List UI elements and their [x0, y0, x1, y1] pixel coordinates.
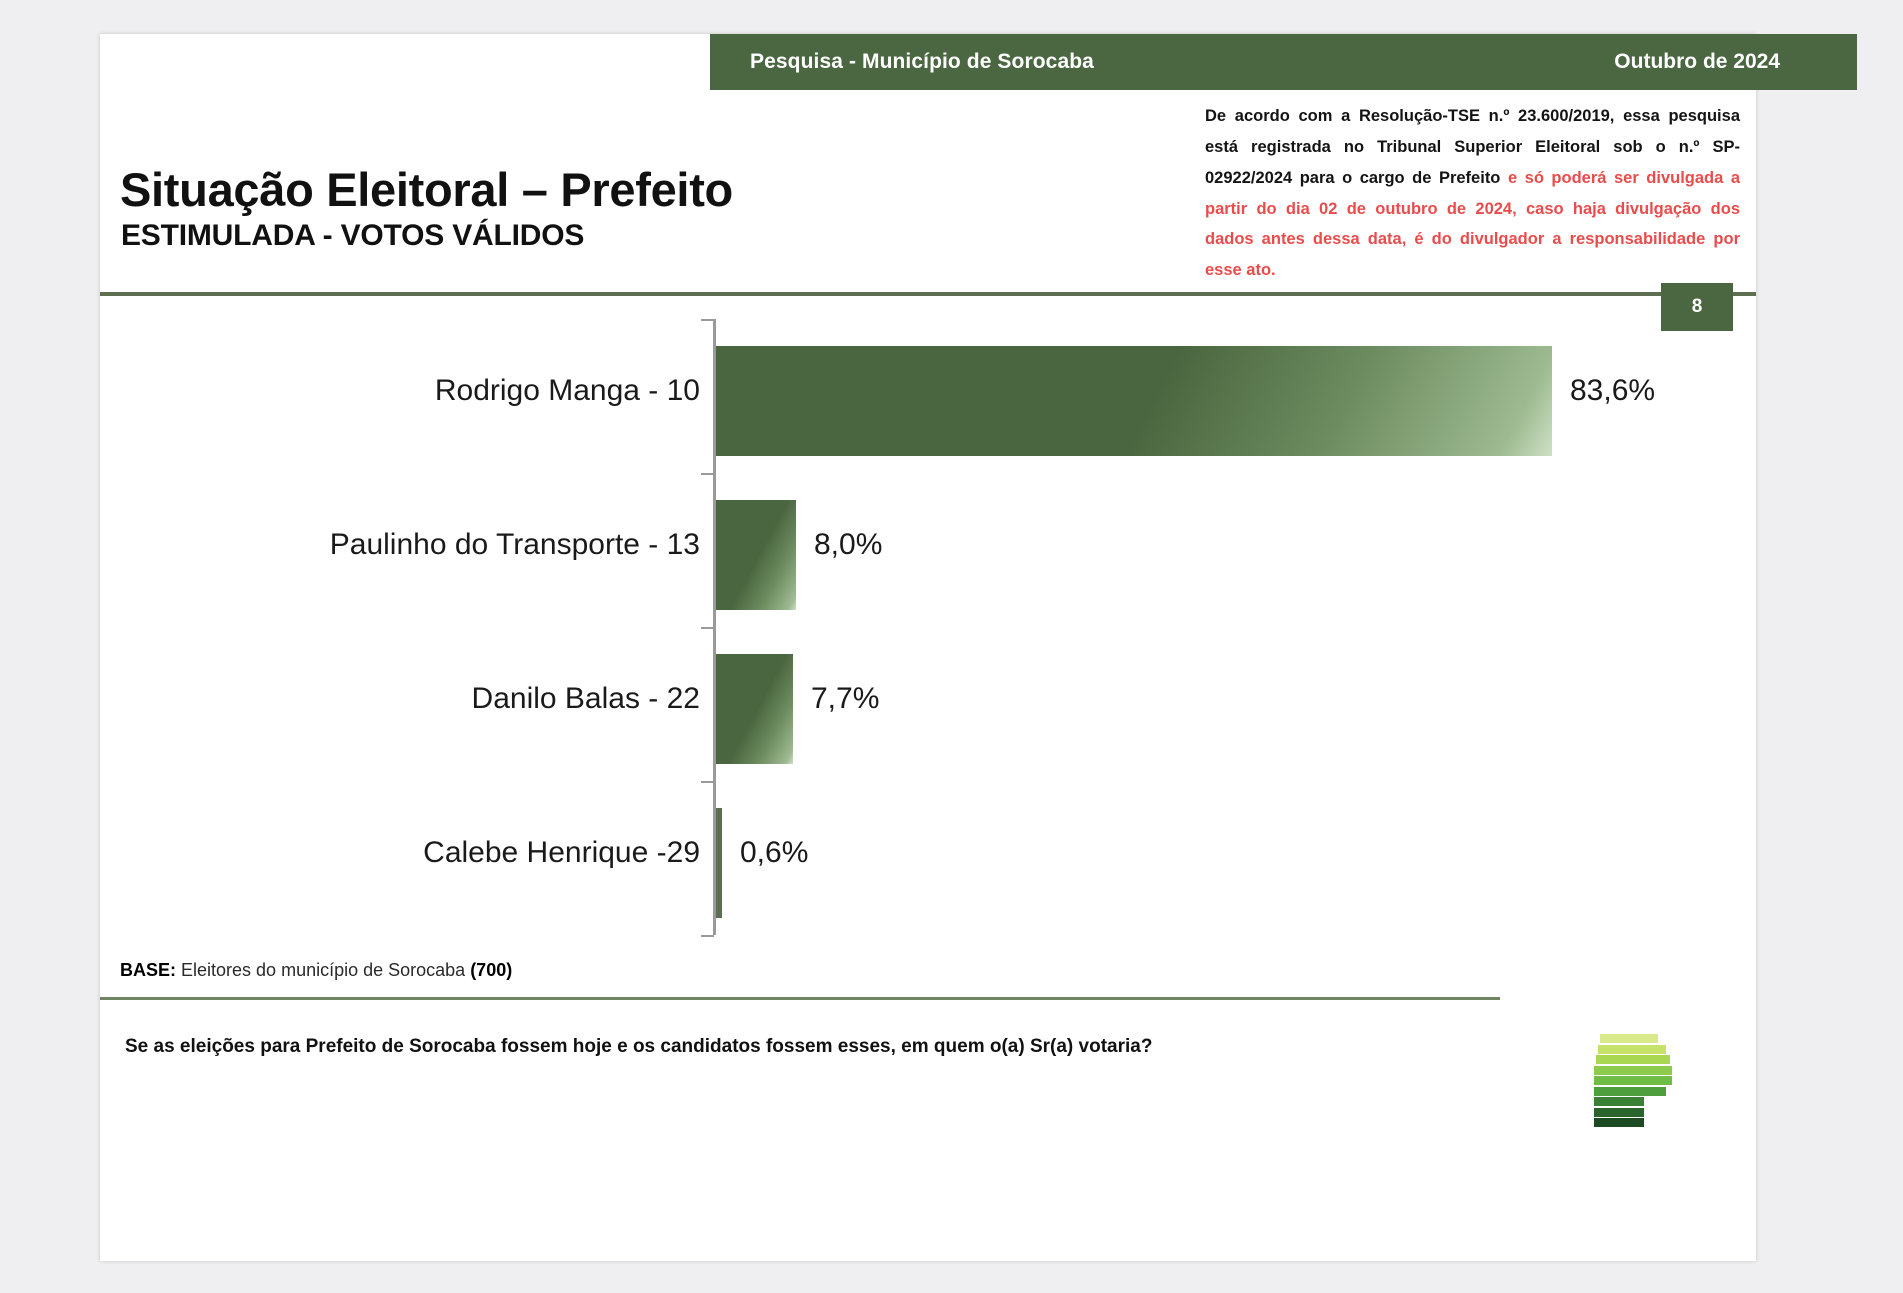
slide-header-bar: Pesquisa - Município de Sorocaba Outubro…	[710, 34, 1857, 90]
bar-category-label: Calebe Henrique -29	[423, 836, 700, 870]
bar-value-label: 7,7%	[811, 682, 879, 716]
base-text: Eleitores do município de Sorocaba	[176, 960, 470, 980]
bar-rect	[716, 346, 1552, 456]
base-divider	[100, 997, 1500, 1000]
slide-canvas: Pesquisa - Município de Sorocaba Outubro…	[100, 34, 1756, 1261]
base-label: BASE:	[120, 960, 176, 980]
base-count: (700)	[470, 960, 512, 980]
axis-tick	[701, 473, 714, 475]
header-date: Outubro de 2024	[1614, 50, 1780, 74]
logo-bar	[1598, 1045, 1666, 1054]
bar-row: Paulinho do Transporte - 138,0%	[100, 478, 1756, 632]
page-subtitle: ESTIMULADA - VOTOS VÁLIDOS	[121, 219, 584, 253]
bar-category-label: Danilo Balas - 22	[472, 682, 700, 716]
page-number-badge: 8	[1661, 283, 1733, 331]
logo-bar	[1600, 1034, 1658, 1043]
logo-bar	[1594, 1108, 1644, 1117]
survey-question: Se as eleições para Prefeito de Sorocaba…	[125, 1036, 1152, 1058]
bar-value-label: 8,0%	[814, 528, 882, 562]
bar-value-label: 0,6%	[740, 836, 808, 870]
bar-row: Calebe Henrique -290,6%	[100, 786, 1756, 940]
bar-rect	[716, 808, 722, 918]
logo-bar	[1594, 1087, 1666, 1096]
bar-row: Rodrigo Manga - 1083,6%	[100, 324, 1756, 478]
bar-category-label: Paulinho do Transporte - 13	[330, 528, 700, 562]
logo-bar	[1594, 1076, 1672, 1085]
bar-rect	[716, 500, 796, 610]
logo-bar	[1594, 1066, 1672, 1075]
logo-bar	[1594, 1118, 1644, 1127]
bar-value-label: 83,6%	[1570, 374, 1655, 408]
logo-bar	[1596, 1055, 1670, 1064]
bar-chart: Rodrigo Manga - 1083,6%Paulinho do Trans…	[100, 296, 1756, 931]
bar-category-label: Rodrigo Manga - 10	[435, 374, 700, 408]
page-title: Situação Eleitoral – Prefeito	[120, 162, 733, 217]
base-footnote: BASE: Eleitores do município de Sorocaba…	[120, 960, 512, 981]
bar-rect	[716, 654, 793, 764]
logo-bar	[1594, 1097, 1644, 1106]
header-survey-title: Pesquisa - Município de Sorocaba	[750, 50, 1094, 74]
axis-tick	[701, 935, 714, 937]
axis-tick	[701, 627, 714, 629]
axis-tick	[701, 781, 714, 783]
legal-disclaimer: De acordo com a Resolução-TSE n.º 23.600…	[1205, 101, 1740, 286]
company-logo	[1590, 1034, 1694, 1132]
axis-tick	[701, 319, 714, 321]
bar-row: Danilo Balas - 227,7%	[100, 632, 1756, 786]
